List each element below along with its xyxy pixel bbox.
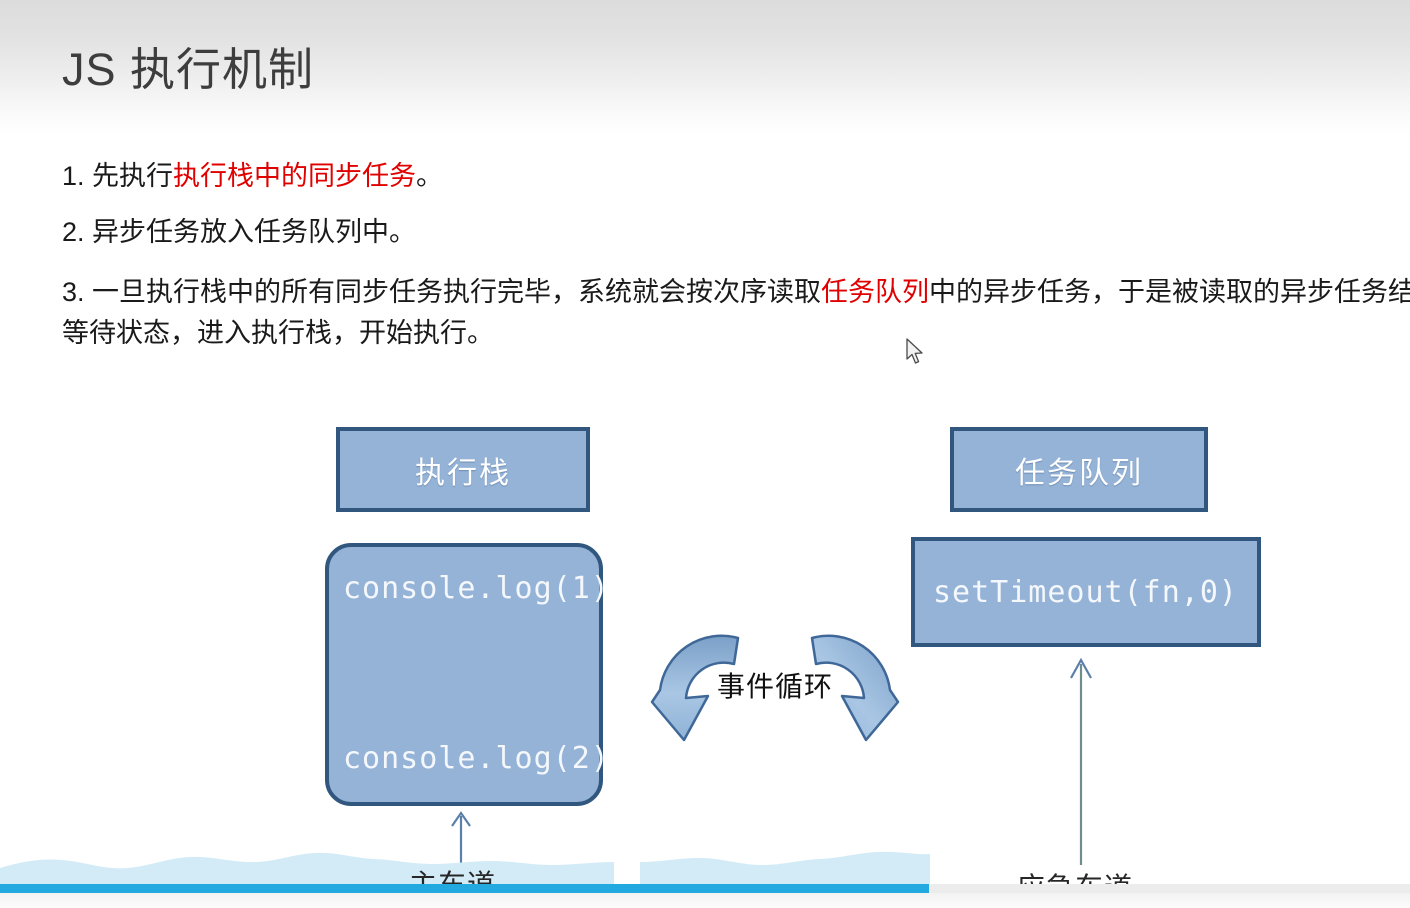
task-queue-body-box: setTimeout(fn,0)	[911, 537, 1261, 647]
bottom-strip	[0, 893, 1410, 908]
event-loop-label: 事件循环	[650, 665, 900, 705]
exec-stack-code-line-2: console.log(2)	[343, 741, 610, 776]
task-queue-header-box: 任务队列	[950, 427, 1208, 512]
progress-fill[interactable]	[0, 884, 929, 893]
exec-stack-code-line-1: console.log(1)	[343, 571, 610, 606]
event-loop-arrows-icon	[650, 628, 900, 788]
exec-stack-body-box: console.log(1) console.log(2)	[325, 543, 603, 806]
exec-stack-header-label: 执行栈	[415, 448, 511, 492]
event-loop-diagram: 执行栈 任务队列 console.log(1) console.log(2) s…	[0, 0, 1410, 908]
task-queue-code-line: setTimeout(fn,0)	[933, 575, 1238, 610]
task-queue-header-label: 任务队列	[1015, 448, 1143, 492]
exec-stack-header-box: 执行栈	[336, 427, 590, 512]
emergency-lane-arrow-icon	[1060, 650, 1102, 865]
